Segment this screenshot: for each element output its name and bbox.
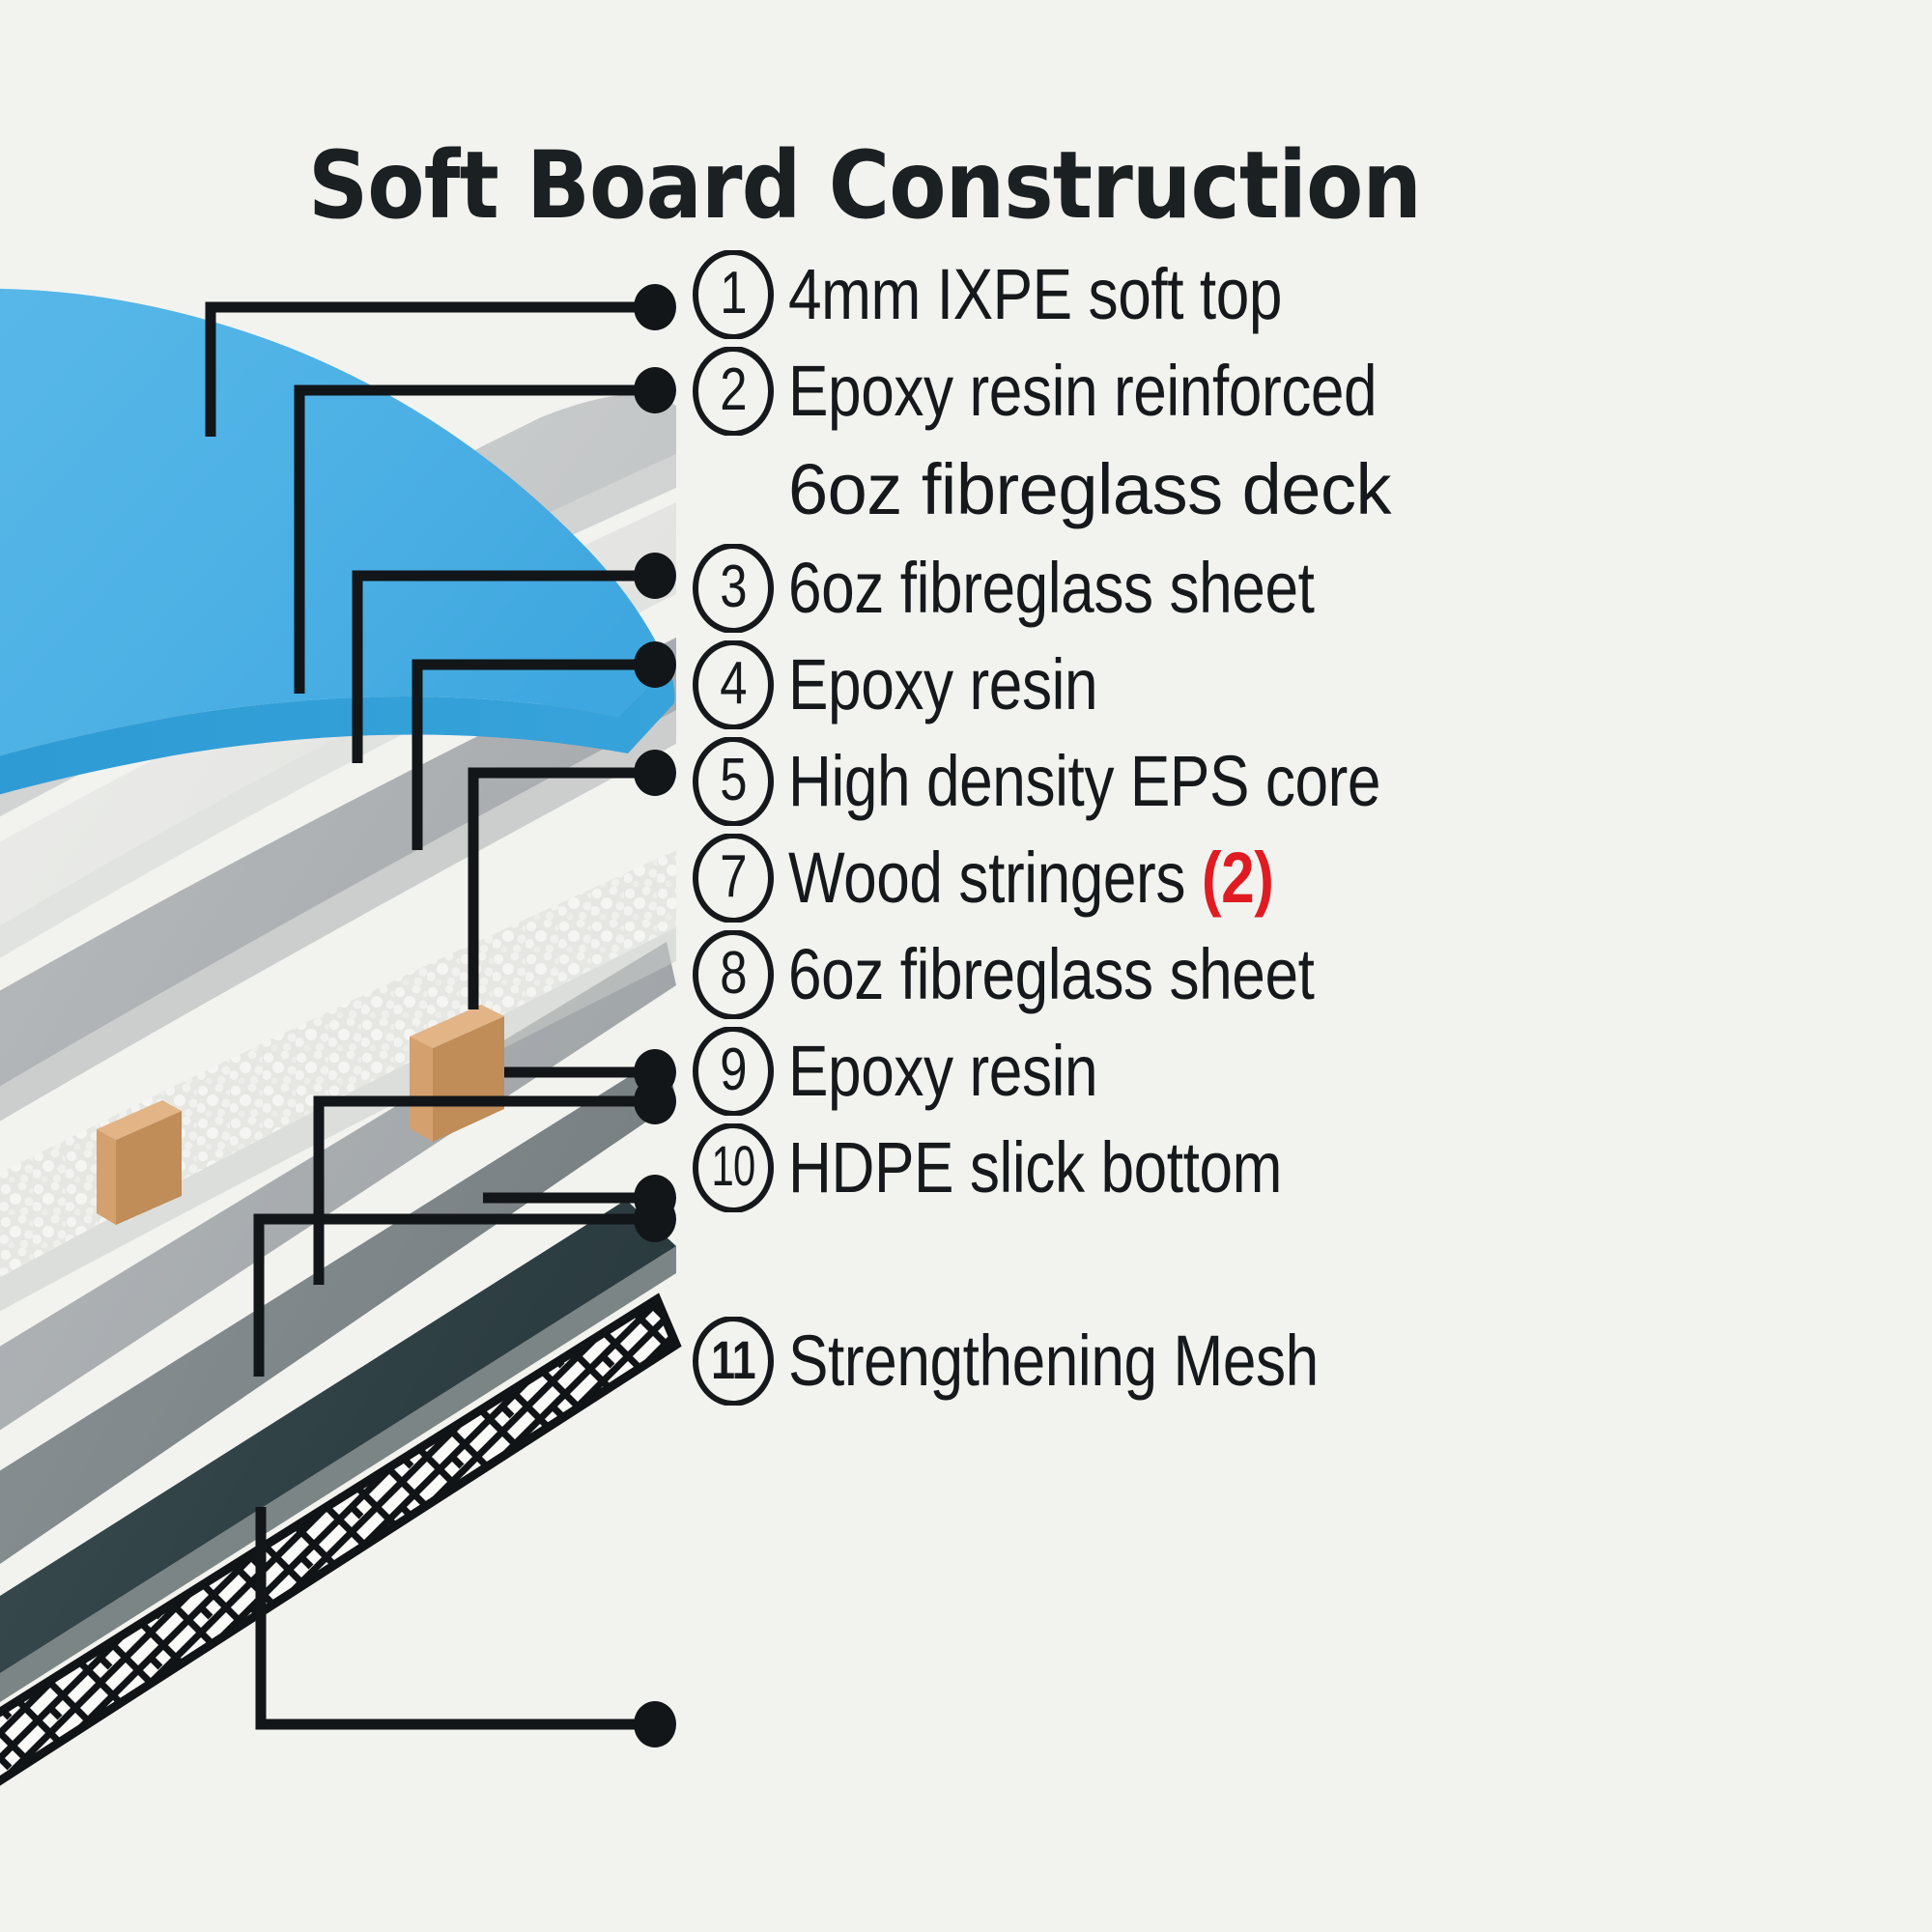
legend-label-continuation: 6oz fibreglass deck <box>788 449 1391 529</box>
number-badge-icon: 2 <box>692 347 775 436</box>
number-badge-icon: 10 <box>692 1123 775 1212</box>
legend-label: High density EPS core <box>788 746 1380 817</box>
legend-item-1[interactable]: 1 4mm IXPE soft top <box>692 246 1928 343</box>
legend-label: Epoxy resin <box>788 1036 1097 1107</box>
legend-number: 5 <box>699 737 768 826</box>
legend-item-10[interactable]: 10 HDPE slick bottom <box>692 1120 1928 1216</box>
number-badge-icon: 11 <box>692 1317 775 1406</box>
page-title: Soft Board Construction <box>87 131 1643 240</box>
stringer-quantity-badge: (2) <box>1202 838 1274 918</box>
number-badge-icon: 5 <box>692 737 775 826</box>
legend-item-4[interactable]: 4 Epoxy resin <box>692 637 1928 733</box>
legend-number: 4 <box>699 640 768 729</box>
legend-number: 1 <box>699 250 768 339</box>
legend-item-2[interactable]: 2 Epoxy resin reinforced <box>692 343 1928 440</box>
number-badge-icon: 9 <box>692 1027 775 1116</box>
legend-item-2-continuation: 6oz fibreglass deck <box>692 440 1928 540</box>
legend-item-9[interactable]: 9 Epoxy resin <box>692 1023 1928 1120</box>
legend-label: Epoxy resin <box>788 649 1097 721</box>
legend-label: 4mm IXPE soft top <box>788 259 1282 330</box>
diagram-canvas: Soft Board Construction 1 4mm IXPE soft … <box>0 0 1932 1932</box>
legend-label-group: Wood stringers (2) <box>788 842 1274 914</box>
legend-spacer <box>692 1216 1928 1313</box>
legend-item-5[interactable]: 5 High density EPS core <box>692 733 1928 830</box>
legend-number: 8 <box>699 930 768 1019</box>
number-badge-icon: 3 <box>692 544 775 633</box>
legend-item-7[interactable]: 7 Wood stringers (2) <box>692 830 1928 926</box>
number-badge-icon: 8 <box>692 930 775 1019</box>
legend-item-11[interactable]: 11 Strengthening Mesh <box>692 1313 1928 1409</box>
legend-label: Strengthening Mesh <box>788 1325 1319 1397</box>
legend-label: 6oz fibreglass sheet <box>788 939 1314 1010</box>
legend-number: 9 <box>699 1027 768 1116</box>
legend-number: 3 <box>699 544 768 633</box>
legend-label: 6oz fibreglass sheet <box>788 553 1314 624</box>
ixpe-soft-top-deck <box>0 289 674 811</box>
legend-label: Wood stringers <box>788 838 1185 918</box>
legend-label: Epoxy resin reinforced <box>788 355 1377 427</box>
legend-number: 2 <box>699 347 768 436</box>
legend-item-8[interactable]: 8 6oz fibreglass sheet <box>692 926 1928 1023</box>
legend-number: 7 <box>699 834 768 923</box>
legend-number: 11 <box>700 1317 767 1406</box>
number-badge-icon: 4 <box>692 640 775 729</box>
legend-number: 10 <box>703 1123 763 1212</box>
legend-label: HDPE slick bottom <box>788 1132 1282 1204</box>
legend-list: 1 4mm IXPE soft top 2 Epoxy resin reinfo… <box>692 246 1928 1409</box>
number-badge-icon: 1 <box>692 250 775 339</box>
number-badge-icon: 7 <box>692 834 775 923</box>
legend-item-3[interactable]: 3 6oz fibreglass sheet <box>692 540 1928 637</box>
